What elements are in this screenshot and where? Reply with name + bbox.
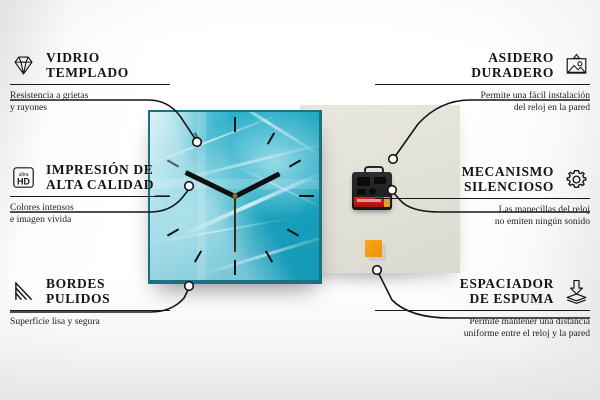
feature-title: IMPRESIÓN DE ALTA CALIDAD: [46, 162, 154, 192]
feature-rule: [375, 84, 590, 85]
foam-spacer: [365, 240, 382, 257]
gear-icon: [563, 166, 590, 193]
feature-header: VIDRIO TEMPLADO: [10, 50, 225, 80]
clock-second-hand: [234, 196, 236, 252]
feature-header: BORDES PULIDOS: [10, 276, 225, 306]
feature-impresion-alta-calidad: ultra HD IMPRESIÓN DE ALTA CALIDAD Color…: [10, 162, 225, 226]
feature-vidrio-templado: VIDRIO TEMPLADO Resistencia a grietas y …: [10, 50, 225, 114]
clock-tick: [234, 260, 236, 275]
feature-rule: [10, 196, 170, 197]
diamond-icon: [10, 52, 37, 79]
feature-bordes-pulidos: BORDES PULIDOS Superficie lisa y segura: [10, 276, 225, 328]
feature-header: ASIDERO DURADERO: [375, 50, 590, 80]
mechanism-slot: [357, 189, 366, 195]
feature-rule: [375, 310, 590, 311]
clock-tick: [234, 117, 236, 132]
feature-asidero-duradero: ASIDERO DURADERO Permite una fácil insta…: [375, 50, 590, 114]
feature-rule: [10, 84, 170, 85]
mechanism-slot: [357, 177, 370, 186]
clock-tick: [299, 195, 314, 197]
feature-title: ASIDERO DURADERO: [471, 50, 554, 80]
feature-mecanismo-silencioso: MECANISMO SILENCIOSO Las manecillas del …: [375, 164, 590, 228]
polished-edges-icon: [10, 278, 37, 305]
clock-tick: [289, 160, 301, 168]
feature-header: ultra HD IMPRESIÓN DE ALTA CALIDAD: [10, 162, 225, 192]
feature-title: MECANISMO SILENCIOSO: [462, 164, 554, 194]
feature-title: BORDES PULIDOS: [46, 276, 110, 306]
feature-rule: [10, 310, 170, 311]
hanging-frame-icon: [563, 52, 590, 79]
feature-header: ESPACIADOR DE ESPUMA: [375, 276, 590, 306]
feature-header: MECANISMO SILENCIOSO: [375, 164, 590, 194]
clock-center-pin: [232, 194, 237, 199]
svg-text:HD: HD: [17, 176, 30, 186]
feature-rule: [375, 198, 590, 199]
foam-spacer-icon: [563, 278, 590, 305]
clock-tick: [287, 229, 299, 237]
clock-tick: [267, 133, 275, 145]
feature-title: VIDRIO TEMPLADO: [46, 50, 129, 80]
ultra-hd-icon: ultra HD: [10, 164, 37, 191]
feature-title: ESPACIADOR DE ESPUMA: [460, 276, 554, 306]
feature-espaciador-de-espuma: ESPACIADOR DE ESPUMA Permite mantener un…: [375, 276, 590, 340]
infographic-canvas: VIDRIO TEMPLADO Resistencia a grietas y …: [0, 0, 600, 400]
